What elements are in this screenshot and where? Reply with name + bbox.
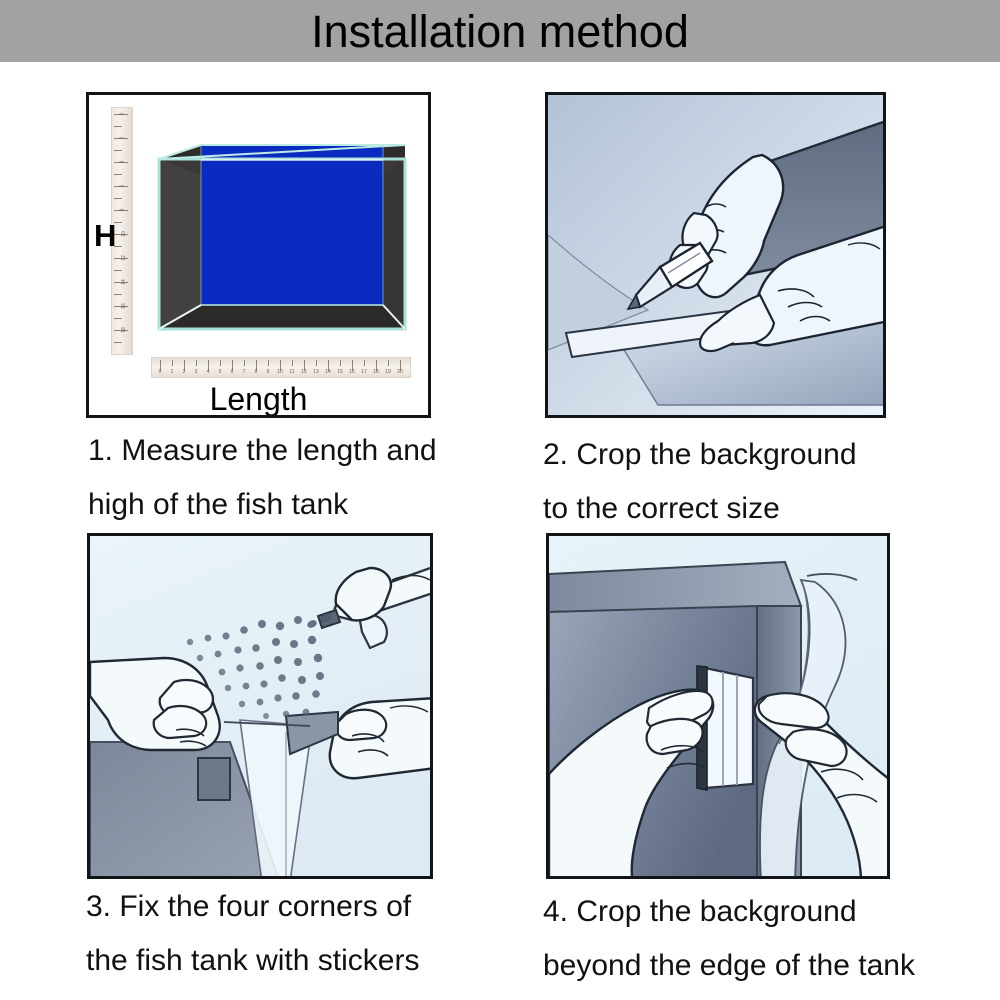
- squeegee-illustration-svg: [549, 536, 890, 879]
- horizontal-ruler: 0 1 2 3 4 5 6 7 8 9 10 11 12 13 14 15 16…: [151, 357, 411, 378]
- step-2-caption: 2. Crop the background to the correct si…: [543, 428, 857, 536]
- height-label: H: [94, 218, 116, 254]
- step-1-caption-line-2: high of the fish tank: [88, 478, 437, 532]
- step-2-illustration-panel: [545, 92, 886, 418]
- tank-svg: [151, 135, 413, 353]
- step-3-caption-line-2: the fish tank with stickers: [86, 934, 419, 988]
- step-3-caption: 3. Fix the four corners of the fish tank…: [86, 880, 419, 988]
- step-1-caption-line-1: 1. Measure the length and: [88, 424, 437, 478]
- spray-illustration-svg: [90, 536, 433, 879]
- step-4-caption-line-1: 4. Crop the background: [543, 885, 915, 939]
- step-4-caption: 4. Crop the background beyond the edge o…: [543, 885, 915, 993]
- step-2-caption-line-2: to the correct size: [543, 482, 857, 536]
- page-title: Installation method: [311, 9, 689, 54]
- cutting-scene: [548, 95, 883, 415]
- length-label: Length: [89, 381, 428, 418]
- step-1-caption: 1. Measure the length and high of the fi…: [88, 424, 437, 532]
- step-3-illustration-panel: [87, 533, 433, 879]
- squeegee-corner-scene: [549, 536, 887, 876]
- step-3-caption-line-1: 3. Fix the four corners of: [86, 880, 419, 934]
- header-bar: Installation method: [0, 0, 1000, 62]
- installation-instruction-page: Installation method: [0, 0, 1000, 1000]
- cutting-illustration-svg: [548, 95, 886, 418]
- fish-tank-shape: [151, 135, 413, 353]
- spray-scene: [90, 536, 430, 876]
- step-4-illustration-panel: [546, 533, 890, 879]
- step-1-illustration-panel: 0 2 4 6 8 10 12 14 16 18 H: [86, 92, 431, 418]
- fish-tank-diagram: 0 2 4 6 8 10 12 14 16 18 H: [89, 95, 428, 415]
- step-2-caption-line-1: 2. Crop the background: [543, 428, 857, 482]
- step-4-caption-line-2: beyond the edge of the tank: [543, 939, 915, 993]
